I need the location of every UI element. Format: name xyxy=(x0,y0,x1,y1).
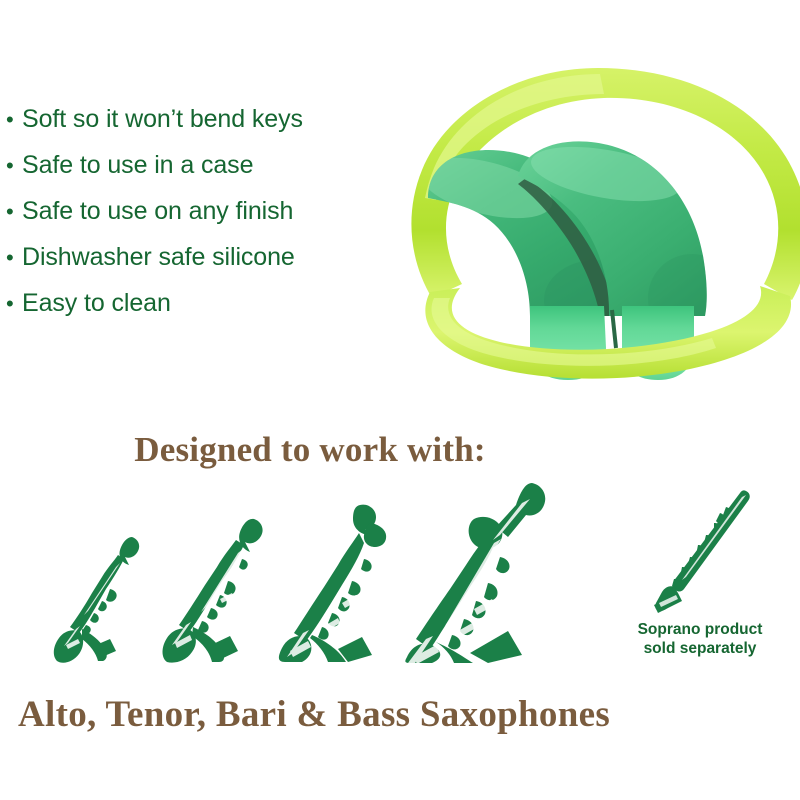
product-photo xyxy=(400,48,800,393)
bari-sax-icon xyxy=(276,501,406,663)
bottom-caption: Alto, Tenor, Bari & Bass Saxophones xyxy=(18,693,778,736)
feature-bullet-list: • Soft so it won’t bend keys • Safe to u… xyxy=(6,96,396,326)
tenor-sax-icon xyxy=(158,515,278,663)
soprano-note-line-2: sold separately xyxy=(600,639,800,658)
bullet-dot-icon: • xyxy=(6,189,22,235)
soprano-sold-separately-note: Soprano product sold separately xyxy=(600,620,800,658)
soprano-sax-icon xyxy=(648,487,756,615)
feature-label: Easy to clean xyxy=(22,280,171,326)
designed-to-work-with-heading: Designed to work with: xyxy=(0,430,620,470)
soprano-note-line-1: Soprano product xyxy=(600,620,800,639)
bullet-dot-icon: • xyxy=(6,143,22,189)
product-graphic-page: • Soft so it won’t bend keys • Safe to u… xyxy=(0,0,800,800)
saxophone-tenor xyxy=(158,515,278,663)
bullet-dot-icon: • xyxy=(6,97,22,143)
list-item: • Soft so it won’t bend keys xyxy=(6,96,396,142)
saxophone-bass xyxy=(404,481,552,663)
list-item: • Safe to use on any finish xyxy=(6,188,396,234)
bullet-dot-icon: • xyxy=(6,235,22,281)
alto-sax-icon xyxy=(46,533,154,663)
bass-sax-icon xyxy=(404,481,552,663)
feature-label: Dishwasher safe silicone xyxy=(22,234,295,280)
list-item: • Easy to clean xyxy=(6,280,396,326)
feature-label: Safe to use on any finish xyxy=(22,188,293,234)
saxophone-soprano xyxy=(648,487,756,615)
list-item: • Dishwasher safe silicone xyxy=(6,234,396,280)
saxophone-bari xyxy=(276,501,406,663)
product-illustration xyxy=(400,48,800,393)
feature-label: Soft so it won’t bend keys xyxy=(22,96,303,142)
list-item: • Safe to use in a case xyxy=(6,142,396,188)
bullet-dot-icon: • xyxy=(6,281,22,327)
saxophone-alto xyxy=(46,533,154,663)
feature-label: Safe to use in a case xyxy=(22,142,253,188)
